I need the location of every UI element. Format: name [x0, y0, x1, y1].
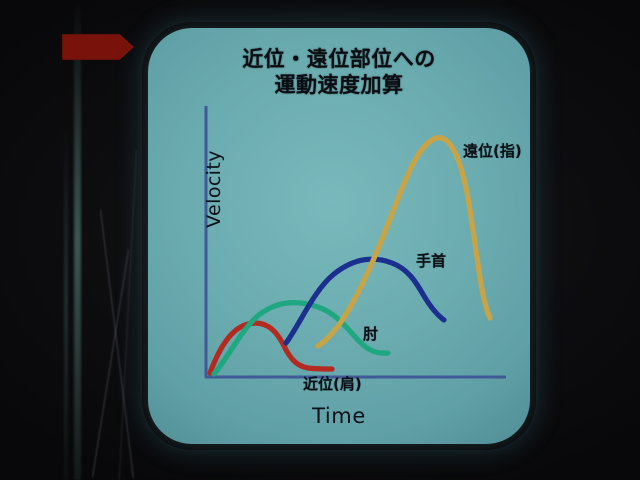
x-axis-label: Time [148, 404, 530, 428]
screenshot-stage: 近位・遠位部位への 運動速度加算 Velocity Time [0, 0, 640, 480]
series-line-distal-finger [318, 138, 490, 346]
light-streak-left [74, 0, 81, 480]
series-label-wrist: 手首 [416, 250, 446, 271]
series-line-proximal-shoulder [210, 323, 332, 373]
series-label-proximal-shoulder: 近位(肩) [303, 373, 362, 394]
y-axis-label: Velocity [203, 129, 225, 249]
series-label-elbow: 肘 [363, 323, 378, 344]
red-arrow-marker [62, 34, 134, 60]
light-streak-left-faint [64, 120, 68, 480]
presentation-slide: 近位・遠位部位への 運動速度加算 Velocity Time [148, 28, 530, 444]
velocity-chart: Velocity Time 遠位(指) 手首 肘 近位(肩) [148, 28, 530, 444]
series-label-distal-finger: 遠位(指) [463, 140, 522, 161]
